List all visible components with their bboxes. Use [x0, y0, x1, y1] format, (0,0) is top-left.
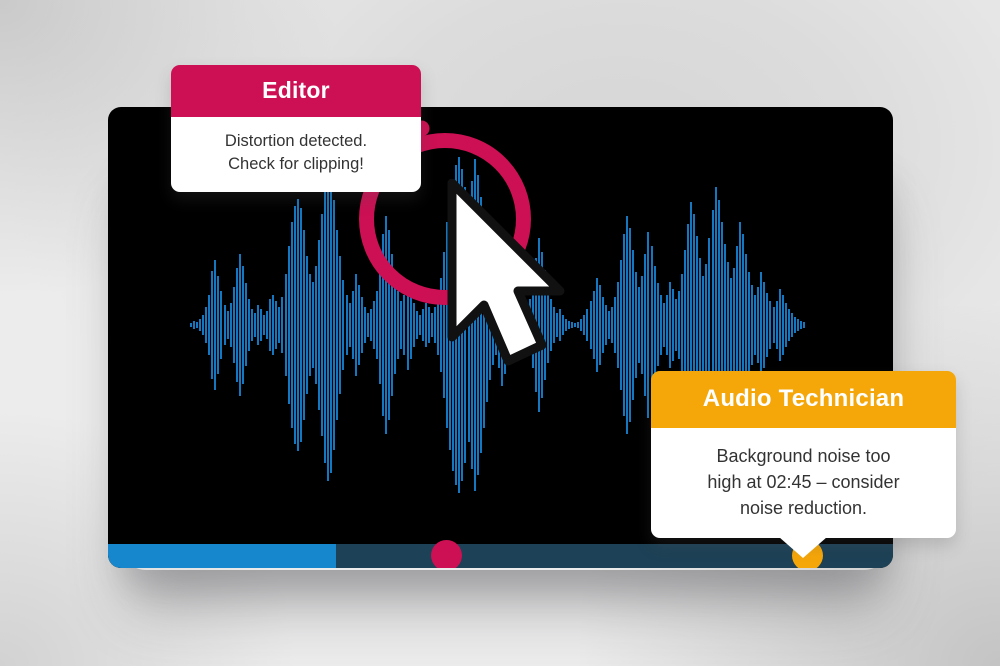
- waveform-bar: [227, 311, 229, 339]
- waveform-bar: [242, 266, 244, 385]
- waveform-bar: [773, 307, 775, 343]
- callout-editor-message-line-1: Distortion detected.: [185, 130, 407, 153]
- waveform-bar: [608, 311, 610, 339]
- waveform-bar: [309, 274, 311, 377]
- waveform-bar: [230, 303, 232, 346]
- waveform-bar: [275, 301, 277, 348]
- waveform-bar: [666, 295, 668, 354]
- waveform-bar: [236, 268, 238, 383]
- waveform-bar: [748, 272, 750, 379]
- waveform-bar: [300, 208, 302, 441]
- waveform-bar: [779, 289, 781, 360]
- waveform-bar: [766, 293, 768, 356]
- waveform-bar: [776, 301, 778, 348]
- waveform-bar: [672, 289, 674, 360]
- waveform-bar: [278, 307, 280, 343]
- waveform-bar: [211, 271, 213, 380]
- waveform-bar: [571, 322, 573, 328]
- waveform-bar: [214, 260, 216, 390]
- waveform-bar: [251, 309, 253, 341]
- waveform-bar: [678, 291, 680, 358]
- playback-progress-bar[interactable]: [108, 541, 893, 568]
- waveform-bar: [297, 199, 299, 452]
- waveform-bar: [321, 214, 323, 435]
- waveform-bar: [611, 307, 613, 343]
- waveform-bar: [245, 283, 247, 366]
- waveform-bar: [754, 295, 756, 354]
- waveform-bar: [751, 285, 753, 364]
- waveform-bar: [333, 200, 335, 449]
- waveform-bar: [260, 309, 262, 341]
- waveform-bar: [346, 295, 348, 354]
- waveform-bar: [318, 240, 320, 410]
- waveform-bar: [269, 299, 271, 350]
- waveform-bar: [620, 260, 622, 390]
- pointer-cursor-icon: [446, 179, 566, 369]
- waveform-bar: [281, 297, 283, 352]
- waveform-bar: [705, 264, 707, 387]
- waveform-bar: [593, 291, 595, 358]
- callout-technician-message-line-1: Background noise too: [667, 443, 940, 469]
- waveform-bar: [577, 322, 579, 328]
- waveform-bar: [303, 230, 305, 420]
- waveform-bar: [306, 256, 308, 394]
- waveform-bar: [791, 313, 793, 337]
- waveform-bar: [788, 309, 790, 341]
- screenshot-stage: Editor Distortion detected. Check for cl…: [0, 0, 1000, 666]
- waveform-bar: [217, 276, 219, 375]
- waveform-bar: [220, 291, 222, 358]
- waveform-bar: [239, 254, 241, 396]
- callout-technician-message: Background noise too high at 02:45 – con…: [651, 428, 956, 538]
- waveform-bar: [202, 315, 204, 335]
- waveform-bar: [632, 250, 634, 400]
- waveform-bar: [760, 272, 762, 379]
- waveform-bar: [590, 301, 592, 348]
- waveform-bar: [660, 295, 662, 354]
- waveform-bar: [294, 206, 296, 443]
- callout-technician-message-line-3: noise reduction.: [667, 495, 940, 521]
- waveform-bar: [663, 303, 665, 346]
- waveform-bar: [272, 295, 274, 354]
- waveform-bar: [629, 228, 631, 422]
- waveform-bar: [574, 323, 576, 327]
- waveform-bar: [800, 321, 802, 329]
- callout-audio-technician[interactable]: Audio Technician Background noise too hi…: [651, 371, 956, 538]
- waveform-bar: [568, 321, 570, 329]
- waveform-bar: [596, 278, 598, 373]
- waveform-bar: [257, 305, 259, 345]
- callout-editor-message-line-2: Check for clipping!: [185, 153, 407, 176]
- waveform-bar: [638, 287, 640, 362]
- waveform-bar: [580, 319, 582, 331]
- waveform-bar: [626, 216, 628, 433]
- waveform-bar: [342, 280, 344, 371]
- waveform-bar: [199, 319, 201, 331]
- timeline-marker-editor[interactable]: [431, 540, 462, 568]
- waveform-bar: [675, 299, 677, 350]
- callout-editor-role: Editor: [171, 65, 421, 117]
- waveform-bar: [190, 323, 192, 327]
- waveform-bar: [617, 282, 619, 369]
- waveform-bar: [263, 315, 265, 335]
- waveform-bar: [288, 246, 290, 404]
- waveform-bar: [614, 297, 616, 352]
- waveform-bar: [266, 311, 268, 339]
- waveform-bar: [330, 177, 332, 473]
- waveform-bar: [205, 307, 207, 343]
- waveform-bar: [730, 278, 732, 373]
- waveform-bar: [327, 169, 329, 481]
- waveform-bar: [349, 303, 351, 346]
- waveform-bar: [312, 282, 314, 369]
- waveform-bar: [208, 295, 210, 354]
- waveform-bar: [803, 322, 805, 328]
- waveform-bar: [763, 282, 765, 369]
- waveform-bar: [336, 230, 338, 420]
- waveform-bar: [605, 305, 607, 345]
- waveform-bar: [583, 315, 585, 335]
- waveform-bar: [654, 266, 656, 385]
- waveform-bar: [669, 282, 671, 369]
- waveform-bar: [285, 274, 287, 377]
- waveform-bar: [599, 285, 601, 364]
- waveform-bar: [757, 287, 759, 362]
- waveform-bar: [291, 222, 293, 428]
- waveform-bar: [623, 234, 625, 416]
- callout-technician-role: Audio Technician: [651, 371, 956, 428]
- waveform-bar: [702, 276, 704, 375]
- waveform-bar: [193, 321, 195, 329]
- callout-technician-tail: [779, 537, 827, 558]
- waveform-bar: [657, 283, 659, 366]
- waveform-bar: [797, 319, 799, 331]
- waveform-bar: [681, 274, 683, 377]
- callout-editor-message: Distortion detected. Check for clipping!: [171, 117, 421, 192]
- waveform-bar: [339, 256, 341, 394]
- waveform-bar: [641, 276, 643, 375]
- waveform-bar: [769, 301, 771, 348]
- waveform-bar: [233, 287, 235, 362]
- waveform-bar: [254, 313, 256, 337]
- callout-technician-message-line-2: high at 02:45 – consider: [667, 469, 940, 495]
- waveform-bar: [794, 317, 796, 333]
- waveform-bar: [196, 322, 198, 328]
- waveform-bar: [647, 232, 649, 418]
- waveform-bar: [315, 266, 317, 385]
- waveform-bar: [644, 254, 646, 396]
- waveform-bar: [324, 187, 326, 464]
- waveform-bar: [733, 268, 735, 383]
- waveform-bar: [727, 262, 729, 388]
- waveform-bar: [224, 305, 226, 345]
- waveform-bar: [248, 299, 250, 350]
- waveform-bar: [785, 303, 787, 346]
- progress-fill: [108, 544, 336, 568]
- callout-editor[interactable]: Editor Distortion detected. Check for cl…: [171, 65, 421, 192]
- waveform-bar: [635, 272, 637, 379]
- waveform-bar: [586, 309, 588, 341]
- waveform-bar: [602, 297, 604, 352]
- waveform-bar: [782, 295, 784, 354]
